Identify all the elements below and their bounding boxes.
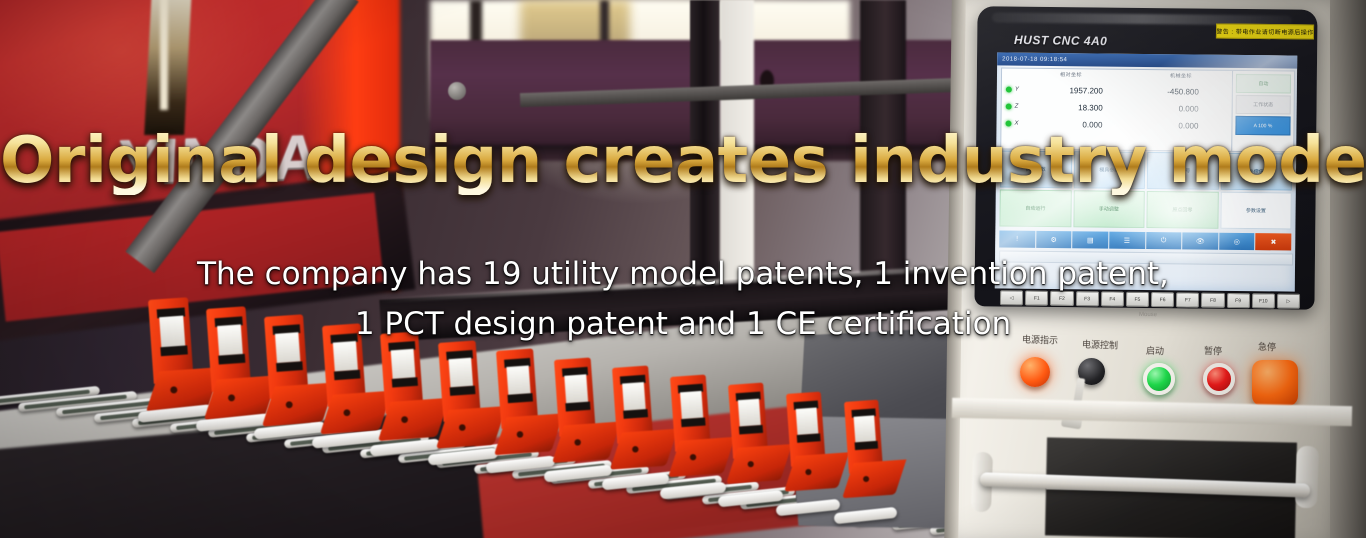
coordinate-rows: Y1957.200-450.800Z18.3000.000X0.0000.000 — [1002, 71, 1232, 73]
power-icon[interactable]: ⏻ — [1146, 232, 1182, 249]
warning-sticker-text: 警告 : 带电作业请切断电源后操作 — [1216, 26, 1314, 36]
clamp-band-dark — [507, 393, 533, 403]
clamp-band-dark — [392, 377, 418, 387]
axis-name: Z — [1015, 104, 1025, 110]
clamp-bolt-hole — [343, 409, 350, 416]
coordinate-row: Z18.3000.000 — [1006, 100, 1226, 116]
stop-icon[interactable]: ✖ — [1256, 233, 1292, 250]
clamp-bolt-hole — [459, 424, 466, 431]
clamp-band-light — [564, 374, 588, 403]
subtitle-line-1: The company has 19 utility model patents… — [0, 249, 1366, 299]
axis-status-led — [1006, 104, 1012, 110]
column-header-relative: 相对坐标 — [1060, 71, 1082, 78]
axis-name: Y — [1015, 87, 1025, 93]
power-indicator-lamp[interactable] — [1020, 357, 1050, 387]
emergency-stop-button[interactable] — [1252, 360, 1298, 406]
clamp-band-light — [738, 399, 761, 427]
machine-slot — [144, 0, 192, 135]
clamp-band-dark — [218, 353, 245, 364]
panel-icon[interactable]: ▤ — [1072, 231, 1108, 248]
clamp-band-light — [796, 407, 819, 434]
axis-status-led — [1006, 87, 1012, 93]
clamp-band-light — [391, 349, 416, 379]
clamp-band-light — [680, 390, 703, 418]
clamp-band-dark — [334, 369, 361, 379]
clamp-band-light — [506, 365, 530, 394]
status-cell: 自动 — [1236, 74, 1291, 94]
axis-machine-value: -450.800 — [1103, 86, 1199, 96]
subtitle-line-2: 1 PCT design patent and 1 CE certificati… — [0, 299, 1366, 349]
clamp-bolt-hole — [228, 394, 235, 401]
coordinate-row: Y1957.200-450.800 — [1006, 83, 1226, 99]
page-title: Original design creates industry model — [0, 128, 1366, 195]
clamp-band-light — [622, 382, 646, 411]
screen-toolbar[interactable]: !⚙▤☰⏻👁◎✖ — [999, 230, 1291, 250]
clamp-band-dark — [623, 409, 648, 419]
clamp-band-dark — [450, 385, 476, 395]
subtitle: The company has 19 utility model patents… — [0, 249, 1366, 349]
list-icon[interactable]: ☰ — [1109, 232, 1145, 249]
axis-machine-value: 0.000 — [1103, 103, 1199, 113]
clamp-band-dark — [276, 361, 303, 372]
column-header-machine: 机械坐标 — [1170, 72, 1192, 79]
clamp-bolt-hole — [574, 438, 581, 445]
cnc-brand-label: HUST CNC 4A0 — [1014, 33, 1164, 51]
clamp-band-dark — [565, 401, 590, 411]
arm-pivot-joint — [448, 82, 466, 100]
status-cell: 工作状态 — [1236, 95, 1291, 115]
clamp-band-light — [449, 357, 473, 387]
clamp-band-dark — [797, 433, 821, 442]
clamp-band-dark — [739, 425, 763, 435]
target-icon[interactable]: ◎ — [1219, 233, 1255, 250]
warning-sticker: 警告 : 带电作业请切断电源后操作 — [1216, 23, 1314, 39]
clamp-band-dark — [681, 417, 706, 427]
clamp-bolt-hole — [690, 453, 697, 460]
clamp-bolt-hole — [805, 468, 811, 474]
alert-icon[interactable]: ! — [999, 230, 1035, 247]
axis-relative-value: 18.300 — [1025, 102, 1103, 112]
eye-icon[interactable]: 👁 — [1182, 232, 1218, 249]
start-button[interactable] — [1143, 363, 1175, 395]
tool-icon[interactable]: ⚙ — [1036, 231, 1072, 248]
handle-bracket — [1295, 446, 1319, 509]
banner-image: YINDA HUST CNC 4A0 警告 : 带电作业请切断电源后操作 201… — [0, 0, 1366, 538]
axis-relative-value: 1957.200 — [1025, 85, 1103, 95]
clamp-band-dark — [855, 441, 879, 450]
pause-button[interactable] — [1203, 363, 1235, 395]
screen-titlebar: 2018-07-18 09:18:54 — [997, 52, 1297, 68]
machine-slot-glint — [160, 0, 168, 110]
clamp-band-light — [854, 415, 876, 442]
